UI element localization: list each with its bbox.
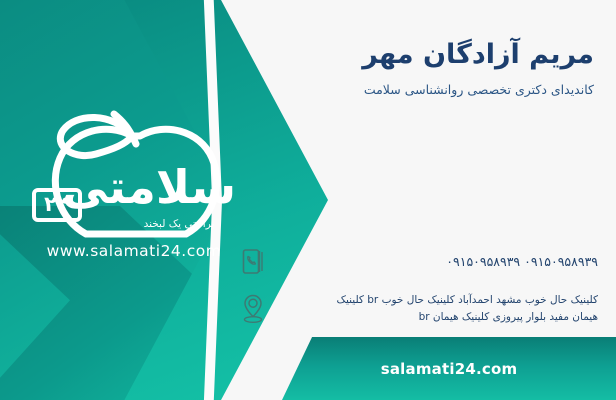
person-title: کاندیدای دکتری تخصصی روانشناسی سلامت bbox=[264, 81, 594, 100]
business-card: سلامتی ۲۴ براحتی یک لبخند www.salamati24… bbox=[0, 0, 616, 400]
logo-badge-24: ۲۴ bbox=[37, 194, 77, 215]
logo-script-text: سلامتی bbox=[54, 164, 244, 210]
logo-tagline: براحتی یک لبخند bbox=[114, 218, 244, 230]
logo-website-url: www.salamati24.com bbox=[24, 242, 244, 260]
brand-logo: سلامتی ۲۴ براحتی یک لبخند www.salamati24… bbox=[14, 104, 264, 269]
contact-block: ۰۹۱۵۰۹۵۸۹۳۹ ۰۹۱۵۰۹۵۸۹۳۹ کلینیک حال خوب م… bbox=[238, 244, 598, 341]
address-line-1: کلینیک حال خوب مشهد احمدآباد کلینیک حال … bbox=[280, 292, 598, 309]
phone-number[interactable]: ۰۹۱۵۰۹۵۸۹۳۹ ۰۹۱۵۰۹۵۸۹۳۹ bbox=[280, 254, 598, 269]
phonebook-icon bbox=[238, 244, 268, 278]
address-lines: کلینیک حال خوب مشهد احمدآباد کلینیک حال … bbox=[280, 292, 598, 327]
person-name: مریم آزادگان مهر bbox=[264, 38, 594, 72]
map-pin-icon bbox=[238, 292, 268, 326]
identity-block: مریم آزادگان مهر کاندیدای دکتری تخصصی رو… bbox=[264, 38, 594, 100]
contact-row-phone: ۰۹۱۵۰۹۵۸۹۳۹ ۰۹۱۵۰۹۵۸۹۳۹ bbox=[238, 244, 598, 278]
footer-website[interactable]: salamati24.com bbox=[381, 360, 518, 378]
contact-row-address: کلینیک حال خوب مشهد احمدآباد کلینیک حال … bbox=[238, 292, 598, 327]
address-line-2: هیمان مفید بلوار پیروزی کلینیک هیمان br bbox=[280, 309, 598, 326]
footer-bar: salamati24.com bbox=[282, 337, 616, 400]
